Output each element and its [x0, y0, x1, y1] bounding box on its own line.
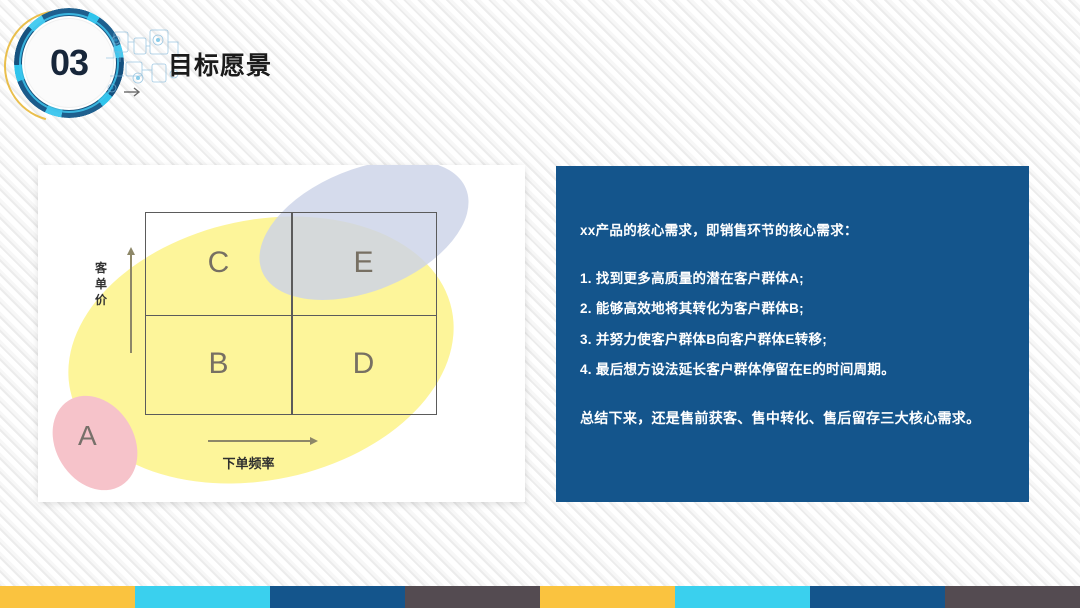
list-item: 1. 找到更多高质量的潜在客户群体A; [580, 272, 1011, 286]
y-axis-up-arrow-icon [130, 253, 132, 353]
list-item: 3. 并努力使客户群体B向客户群体E转移; [580, 333, 1011, 347]
quadrant-chart: C E B D A 客单价 下单频率 [38, 165, 525, 502]
quadrant-cell-e: E [291, 213, 436, 314]
bar-segment-4 [405, 586, 540, 608]
section-number: 03 [24, 18, 114, 108]
bar-segment-8 [945, 586, 1080, 608]
outside-label-a: A [78, 420, 97, 452]
list-item: 2. 能够高效地将其转化为客户群体B; [580, 302, 1011, 316]
bar-segment-2 [135, 586, 270, 608]
bar-segment-7 [810, 586, 945, 608]
x-axis-label-text: 下单频率 [222, 453, 274, 472]
slide-canvas: 03 [0, 0, 1080, 608]
list-item: 4. 最后想方设法延长客户群体停留在E的时间周期。 [580, 363, 1011, 377]
slide-header: 03 [0, 0, 540, 125]
x-axis-right-arrow-icon [208, 440, 312, 442]
text-panel: xx产品的核心需求，即销售环节的核心需求： 1. 找到更多高质量的潜在客户群体A… [556, 166, 1029, 502]
bar-segment-5 [540, 586, 675, 608]
quadrant-grid: C E B D [145, 212, 437, 415]
chart-card: C E B D A 客单价 下单频率 [38, 165, 525, 502]
panel-summary-text: 总结下来，还是售前获客、售中转化、售后留存三大核心需求。 [580, 411, 1011, 425]
quadrant-cell-c: C [146, 213, 291, 314]
page-title: 目标愿景 [168, 46, 272, 82]
panel-intro-text: xx产品的核心需求，即销售环节的核心需求： [580, 224, 1011, 238]
y-axis-label: 客单价 [92, 260, 110, 308]
requirements-list: 1. 找到更多高质量的潜在客户群体A; 2. 能够高效地将其转化为客户群体B; … [580, 272, 1011, 377]
text-panel-body: xx产品的核心需求，即销售环节的核心需求： 1. 找到更多高质量的潜在客户群体A… [580, 224, 1011, 425]
quadrant-cell-d: D [291, 314, 436, 415]
quadrant-cell-b: B [146, 314, 291, 415]
bar-segment-6 [675, 586, 810, 608]
bar-segment-3 [270, 586, 405, 608]
bottom-color-bar [0, 586, 1080, 608]
x-axis-label: 下单频率 [38, 453, 525, 472]
bar-segment-1 [0, 586, 135, 608]
